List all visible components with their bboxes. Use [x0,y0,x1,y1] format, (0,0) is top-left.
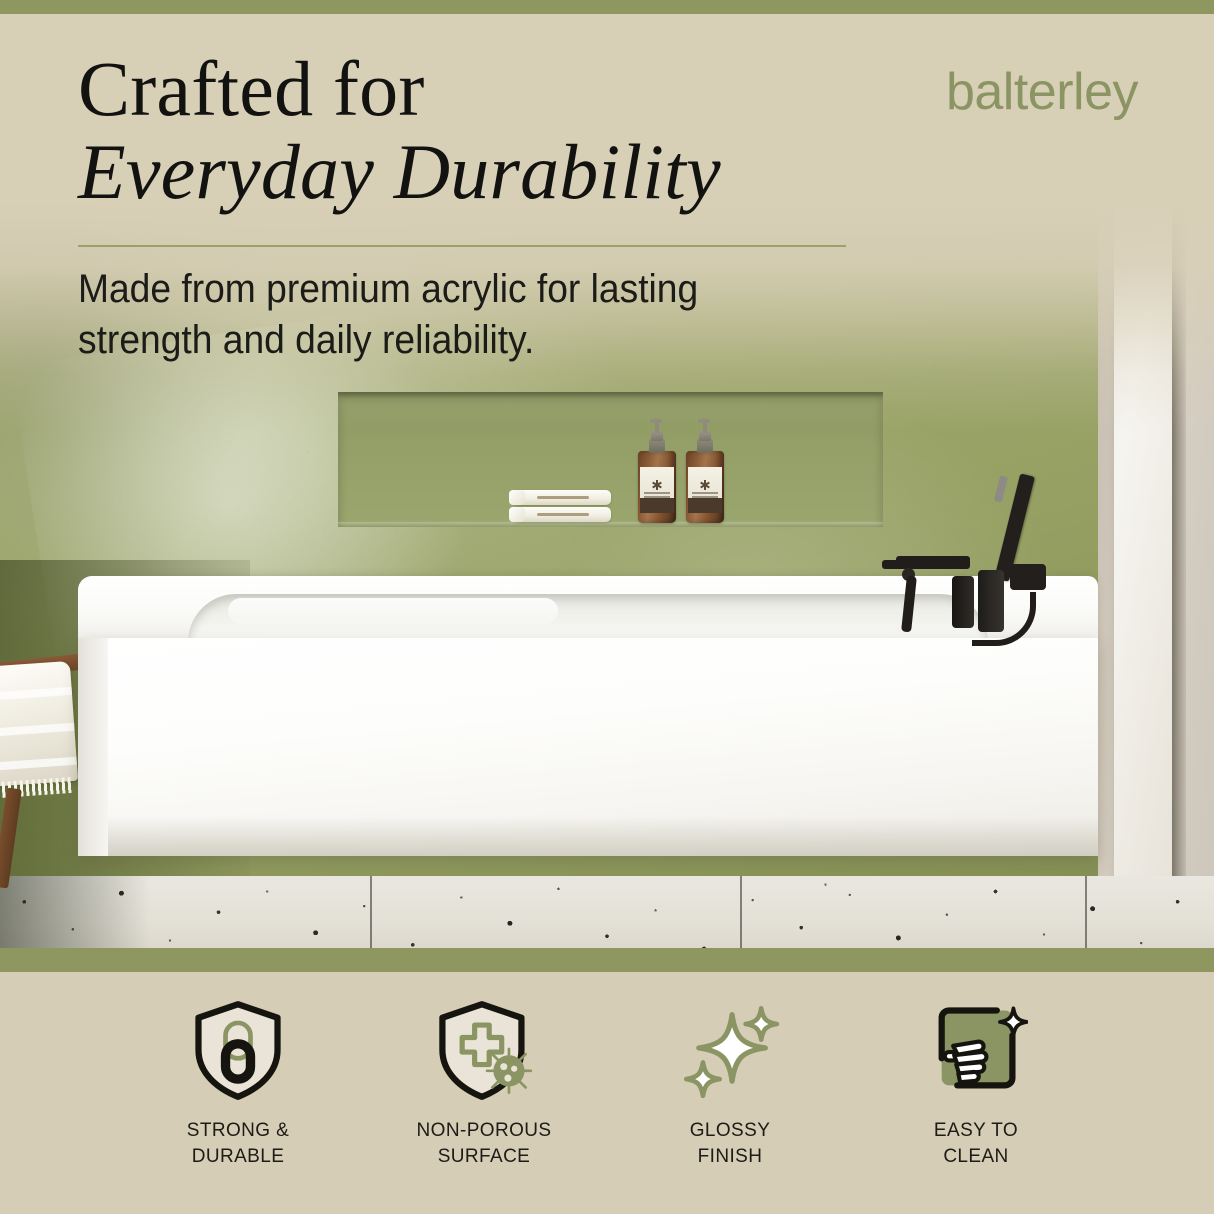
subheading-line-1: Made from premium acrylic for lasting [78,267,698,311]
feature-label-line-1: EASY TO [934,1118,1018,1144]
headline-line-1: Crafted for [78,52,938,127]
rolled-towels [513,487,611,523]
page-title: Crafted for Everyday Durability [78,52,938,210]
bathtub [78,576,1098,876]
header: Crafted for Everyday Durability Made fro… [0,0,1214,400]
towel-tie [537,513,589,516]
bathtub-apron-shade [78,816,1098,856]
faucet-mixer [978,570,1004,632]
feature-label-line-2: CLEAN [934,1144,1018,1170]
feature-label: NON-POROUS SURFACE [417,1118,552,1169]
subheading: Made from premium acrylic for lasting st… [78,264,813,366]
germ-glyph [487,1049,531,1093]
bottle-neck [697,439,713,453]
bottle-label [688,467,722,513]
amber-pump-bottle [638,427,676,523]
bottle-label [640,467,674,513]
wand-bracket [1010,564,1046,590]
towel-end [509,507,525,522]
bathtub-side-face [78,638,108,856]
promo-banner: Crafted for Everyday Durability Made fro… [0,0,1214,1214]
feature-label-line-1: STRONG & [187,1118,289,1144]
bottle-mark-icon [652,480,662,490]
wooden-stool [0,648,90,888]
bottle-mark-icon [700,480,710,490]
feature-item-glossy-finish: GLOSSY FINISH [607,972,853,1169]
feature-item-easy-to-clean: EASY TO CLEAN [853,972,1099,1169]
bottom-accent-band [0,948,1214,972]
feature-label: STRONG & DURABLE [187,1118,289,1169]
hand-wipe-icon [924,998,1028,1102]
draped-towel [0,661,78,787]
headline-line-2: Everyday Durability [78,135,938,210]
bathtub-highlight [228,598,558,624]
brand-logo: balterley [946,62,1138,122]
divider [78,245,846,247]
feature-label-line-2: DURABLE [187,1144,289,1170]
feature-label: EASY TO CLEAN [934,1118,1018,1169]
feature-item-strong-durable: STRONG & DURABLE [115,972,361,1169]
stool-leg [0,787,22,888]
bath-faucet [948,472,1068,642]
feature-label-line-1: NON-POROUS [417,1118,552,1144]
faucet-body [952,576,974,628]
shower-wand-face [994,475,1008,502]
feature-label-line-2: FINISH [690,1144,771,1170]
feature-label-line-2: SURFACE [417,1144,552,1170]
feature-label-line-1: GLOSSY [690,1118,771,1144]
bottle-label-band [640,498,674,513]
towel-end [509,490,525,505]
shield-chain-icon [186,998,290,1102]
subheading-line-2: strength and daily reliability. [78,318,534,362]
faucet-spout-end [882,560,908,569]
shield-germ-icon [432,998,536,1102]
sparkle-icon [678,998,782,1102]
towel-tie [537,496,589,499]
amber-pump-bottle [686,427,724,523]
bottle-neck [649,439,665,453]
feature-item-non-porous-surface: NON-POROUS SURFACE [361,972,607,1169]
bottle-label-band [688,498,722,513]
feature-label: GLOSSY FINISH [690,1118,771,1169]
feature-strip: STRONG & DURABLE [0,972,1214,1214]
